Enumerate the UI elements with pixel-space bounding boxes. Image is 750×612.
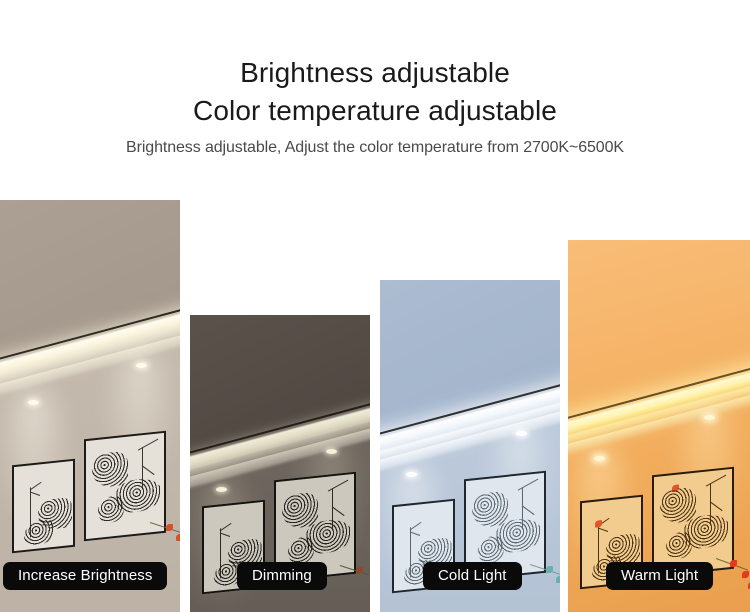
plant-flower (356, 567, 363, 574)
downlight-fixture-right (136, 363, 147, 368)
plant-flower (166, 524, 173, 531)
downlight-fixture-left (406, 472, 417, 477)
artwork-canvas-left (14, 461, 73, 551)
artwork-frame-right (84, 431, 166, 542)
page-title-line-1: Brightness adjustable (0, 56, 750, 90)
art-branch (522, 505, 535, 515)
panel-dimming[interactable]: Dimming (190, 315, 370, 612)
plant-flower (546, 566, 553, 573)
art-branch (410, 522, 422, 530)
art-branch (410, 531, 420, 536)
plant-flower (556, 576, 560, 583)
downlight-fixture-right (516, 431, 527, 436)
art-branch (30, 491, 40, 496)
panel-warm-light[interactable]: Warm Light (568, 240, 750, 612)
art-branch (328, 480, 349, 492)
plant-flower (176, 534, 180, 541)
art-ink-blob (478, 535, 504, 564)
panel-label-text: Cold Light (438, 562, 507, 590)
art-branch (332, 506, 345, 516)
art-branch (30, 482, 42, 490)
downlight-fixture-left (216, 487, 227, 492)
panel-label-increase-brightness[interactable]: Increase Brightness (3, 562, 167, 590)
scene-warm-light (568, 240, 750, 612)
panel-cold-light[interactable]: Cold Light (380, 280, 560, 612)
art-ink-blob (666, 531, 692, 560)
panel-label-cold-light[interactable]: Cold Light (423, 562, 522, 590)
art-branch (138, 439, 159, 451)
page-subtitle: Brightness adjustable, Adjust the color … (0, 137, 750, 159)
downlight-fixture-right (326, 449, 337, 454)
art-branch (220, 523, 232, 531)
header-block: Brightness adjustable Color temperature … (0, 0, 750, 200)
downlight-fixture-left (594, 456, 605, 461)
panel-label-dimming[interactable]: Dimming (237, 562, 327, 590)
art-branch (518, 479, 539, 491)
art-flower-accent (595, 520, 602, 528)
art-branch (220, 532, 230, 537)
art-branch (710, 501, 723, 511)
downlight-fixture-left (28, 400, 39, 405)
scene-increase-brightness (0, 200, 180, 612)
art-ink-blob (288, 536, 314, 565)
art-ink-blob (98, 495, 124, 524)
art-branch (706, 475, 727, 487)
panel-label-warm-light[interactable]: Warm Light (606, 562, 713, 590)
plant-flower (742, 571, 749, 578)
art-branch (142, 465, 155, 475)
panel-increase-brightness[interactable]: Increase Brightness (0, 200, 180, 612)
panel-label-text: Warm Light (621, 562, 698, 590)
plant-flower (730, 560, 737, 567)
artwork-frame-left (12, 459, 75, 554)
page-title-line-2: Color temperature adjustable (0, 94, 750, 128)
art-ink-blob (24, 519, 54, 546)
downlight-fixture-right (704, 415, 715, 420)
art-branch (598, 527, 608, 532)
panel-label-text: Dimming (252, 562, 312, 590)
panel-label-text: Increase Brightness (18, 562, 152, 590)
